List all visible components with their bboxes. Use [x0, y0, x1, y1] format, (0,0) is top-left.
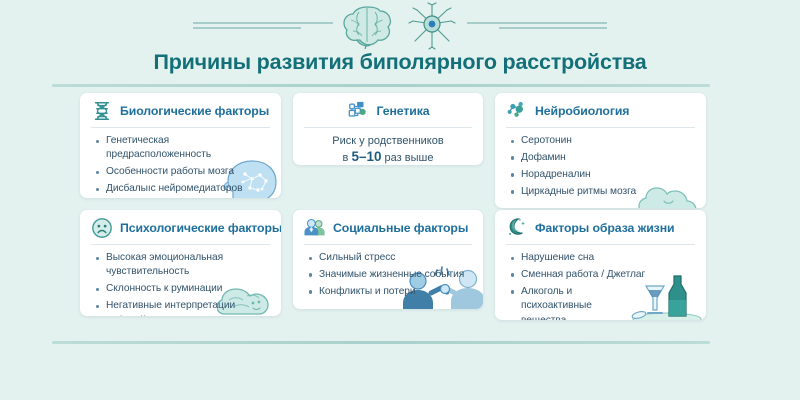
factor-card-grid: Биологические факторы Генетическая предр…: [80, 93, 706, 333]
page-header: Причины развития биполярного расстройств…: [0, 0, 800, 88]
bullet-list: Серотонин Дофамин Норадреналин Циркадные…: [495, 128, 706, 208]
list-item: Циркадные ритмы мозга: [510, 185, 696, 199]
list-item: Серотонин: [510, 134, 696, 148]
card-header: Нейробиология: [495, 93, 706, 126]
sad-face-icon: [91, 217, 113, 239]
molecule-icon: [506, 100, 528, 122]
hero-rule-left: [193, 20, 333, 32]
two-people-icon: [304, 217, 326, 239]
genetics-statement: Риск у родственников в 5–10 раз выше: [293, 128, 483, 165]
card-header: Генетика: [293, 93, 483, 126]
bullet-list: Высокая эмоциональная чувствительность С…: [80, 245, 281, 316]
card-biological[interactable]: Биологические факторы Генетическая предр…: [80, 93, 281, 198]
card-title: Нейробиология: [535, 104, 629, 118]
list-item: Дофамин: [510, 151, 696, 165]
card-neurobiology[interactable]: Нейробиология Серотонин Дофамин Норадрен…: [495, 93, 706, 208]
card-title: Психологические факторы: [120, 221, 281, 235]
list-item: Склонность к руминации: [95, 282, 271, 296]
neuron-icon: [401, 2, 463, 50]
list-item: Высокая эмоциональная чувствительность: [95, 251, 271, 280]
card-lifestyle[interactable]: Факторы образа жизни Нарушение сна Сменн…: [495, 210, 706, 320]
list-item: Особенности работы мозга: [95, 165, 271, 179]
genetics-suffix: раз выше: [381, 152, 433, 164]
hero-rule-right: [467, 20, 607, 32]
divider-bottom: [52, 341, 710, 344]
dna-icon: [91, 100, 113, 122]
list-item: Алкоголь и психоактивные вещества: [510, 285, 639, 320]
bullet-list: Сильный стресс Значимые жизненные событи…: [293, 245, 483, 309]
card-genetics[interactable]: Генетика Риск у родственников в 5–10 раз…: [293, 93, 483, 165]
card-header: Биологические факторы: [80, 93, 281, 126]
card-header: Социальные факторы: [293, 210, 483, 243]
card-header: Факторы образа жизни: [495, 210, 706, 243]
hero-icon-row: [0, 2, 800, 50]
genetics-risk-value: 5–10: [351, 149, 381, 164]
list-item: Нарушение сна: [510, 251, 696, 265]
list-item: Норадреналин: [510, 168, 696, 182]
list-item: Генетическая предрасположенность: [95, 134, 271, 163]
card-title: Биологические факторы: [120, 104, 269, 118]
list-item: Негативные интерпретации событий: [95, 299, 271, 316]
card-title: Генетика: [376, 104, 429, 118]
list-item: Значимые жизненные события: [308, 268, 473, 282]
list-item: Конфликты и потери: [308, 285, 473, 299]
card-psychological[interactable]: Психологические факторы Высокая эмоциона…: [80, 210, 281, 316]
bullet-list: Нарушение сна Сменная работа / Джетлаг А…: [495, 245, 706, 320]
brain-icon: [337, 3, 397, 49]
card-social[interactable]: Социальные факторы Сильный стресс Значим…: [293, 210, 483, 309]
genetics-statement-line2: в 5–10 раз выше: [303, 149, 473, 165]
list-item: Дисбалыıс нейромедиаторов: [95, 182, 271, 196]
bullet-list: Генетическая предрасположенность Особенн…: [80, 128, 281, 198]
family-tree-icon: [347, 100, 369, 122]
genetics-statement-line1: Риск у родственников: [303, 133, 473, 149]
card-title: Факторы образа жизни: [535, 221, 674, 235]
divider-top: [52, 84, 710, 87]
card-header: Психологические факторы: [80, 210, 281, 243]
crescent-moon-icon: [506, 217, 528, 239]
list-item: Сильный стресс: [308, 251, 473, 265]
page-title: Причины развития биполярного расстройств…: [0, 50, 800, 75]
list-item: Сменная работа / Джетлаг: [510, 268, 696, 282]
card-title: Социальные факторы: [333, 221, 468, 235]
